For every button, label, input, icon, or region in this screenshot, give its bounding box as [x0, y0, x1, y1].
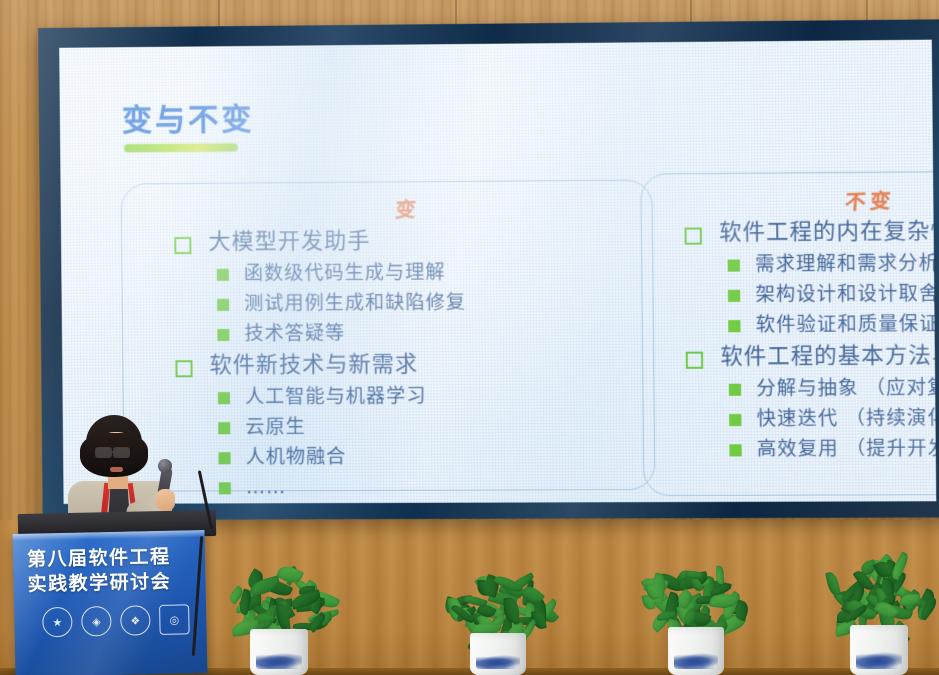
list-item-label: 技术答疑等: [244, 320, 345, 348]
list-item: 需求理解和需求分析: [727, 249, 936, 279]
list-item: 技术答疑等: [217, 320, 466, 348]
plant-pot: [470, 633, 526, 675]
square-filled-bullet-icon: [217, 299, 229, 311]
plant-pot: [668, 627, 724, 675]
presentation-slide: 变与不变 变 大模型开发助手 函数级代码生成与理解: [59, 40, 936, 504]
list-item: 云原生: [218, 413, 467, 441]
eyeglasses-icon: [113, 447, 130, 458]
list-item: 高效复用 （提升开发效能）: [729, 435, 936, 464]
pot-pattern: [256, 653, 302, 669]
list-item: 大模型开发助手: [174, 226, 465, 258]
square-outline-bullet-icon: [686, 352, 703, 369]
led-display-screen: 变与不变 变 大模型开发助手 函数级代码生成与理解: [59, 40, 936, 504]
square-filled-bullet-icon: [218, 422, 230, 434]
square-filled-bullet-icon: [729, 384, 741, 396]
square-filled-bullet-icon: [728, 290, 740, 302]
plant-leaf: [825, 571, 841, 597]
square-filled-bullet-icon: [217, 269, 229, 281]
potted-plant-4: [820, 548, 938, 675]
speaker-hand: [156, 489, 175, 511]
list-item-label: 云原生: [245, 414, 306, 441]
list-item-label: 软件验证和质量保证: [756, 311, 937, 339]
title-underline-bar: [124, 143, 237, 152]
right-panel: 不变 软件工程的内在复杂性和可 需求理解和需求分析 架构设计和设计取舍: [640, 171, 936, 496]
speaker-mouth: [110, 467, 123, 472]
square-outline-bullet-icon: [175, 360, 192, 377]
eyeglasses-bridge: [110, 451, 114, 453]
list-item: 软件工程的基本方法与技术: [686, 340, 937, 372]
left-panel-items: 大模型开发助手 函数级代码生成与理解 测试用例生成和缺陷修复 技术答疑: [162, 226, 468, 504]
list-item-label: 函数级代码生成与理解: [244, 259, 446, 287]
list-item-label: ……: [246, 474, 287, 501]
square-filled-bullet-icon: [728, 260, 740, 272]
microphone-head-icon: [158, 459, 172, 473]
list-item-label: 人工智能与机器学习: [245, 383, 427, 411]
list-item-label: 高效复用 （提升开发效能）: [757, 435, 936, 463]
right-panel-heading: 不变: [844, 184, 896, 215]
conference-room-scene: 变与不变 变 大模型开发助手 函数级代码生成与理解: [0, 0, 939, 675]
square-filled-bullet-icon: [728, 320, 740, 332]
list-item-label: 需求理解和需求分析: [755, 250, 936, 278]
square-outline-bullet-icon: [174, 237, 191, 254]
plant-leaf: [715, 566, 724, 584]
square-outline-bullet-icon: [684, 227, 701, 244]
square-filled-bullet-icon: [217, 329, 229, 341]
plant-pot: [250, 629, 308, 675]
square-filled-bullet-icon: [729, 444, 741, 456]
square-filled-bullet-icon: [218, 452, 230, 464]
plant-leaf: [477, 580, 491, 596]
list-item-label: 软件新技术与新需求: [209, 350, 418, 381]
square-filled-bullet-icon: [219, 482, 231, 494]
list-item: 分解与抽象 （应对复杂问题: [729, 374, 937, 403]
list-item: 测试用例生成和缺陷修复: [217, 289, 466, 318]
plant-pot: [850, 625, 908, 675]
list-item-label: 人机物融合: [246, 444, 347, 471]
list-item: ……: [219, 474, 468, 502]
list-item-label: 快速迭代 （持续演化）: [757, 405, 937, 433]
potted-plant-1: [224, 556, 334, 675]
right-panel-items: 软件工程的内在复杂性和可 需求理解和需求分析 架构设计和设计取舍 软件: [672, 216, 936, 467]
pot-pattern: [476, 655, 521, 669]
slide-title: 变与不变: [122, 94, 255, 139]
list-item: 快速迭代 （持续演化）: [729, 404, 936, 433]
podium-banner: 第八届软件工程 实践教学研讨会 ★ ◈ ❖ ◎: [13, 530, 208, 675]
square-filled-bullet-icon: [729, 414, 741, 426]
potted-plant-3: [640, 556, 752, 675]
list-item-label: 测试用例生成和缺陷修复: [244, 289, 466, 317]
pot-pattern: [856, 652, 902, 669]
left-panel: 变 大模型开发助手 函数级代码生成与理解 测试用例生成和缺陷修复: [121, 179, 656, 491]
pot-pattern: [674, 653, 719, 669]
list-item: 架构设计和设计取舍: [728, 280, 937, 310]
potted-plant-2: [440, 566, 556, 675]
list-item: 软件新技术与新需求: [175, 350, 466, 382]
list-item-label: 软件工程的基本方法与技术: [720, 341, 936, 373]
list-item-label: 大模型开发助手: [208, 227, 370, 258]
list-item: 人机物融合: [218, 443, 467, 471]
list-item: 人工智能与机器学习: [218, 383, 467, 411]
list-item-label: 软件工程的内在复杂性和可: [719, 216, 936, 248]
podium-reflection: [13, 530, 208, 675]
list-item: 软件工程的内在复杂性和可: [684, 216, 936, 249]
list-item: 软件验证和质量保证: [728, 310, 936, 339]
square-filled-bullet-icon: [218, 392, 230, 404]
list-item-label: 分解与抽象 （应对复杂问题: [756, 374, 936, 402]
list-item-label: 架构设计和设计取舍: [755, 281, 936, 309]
list-item: 函数级代码生成与理解: [217, 259, 466, 288]
left-panel-heading: 变: [394, 193, 421, 223]
